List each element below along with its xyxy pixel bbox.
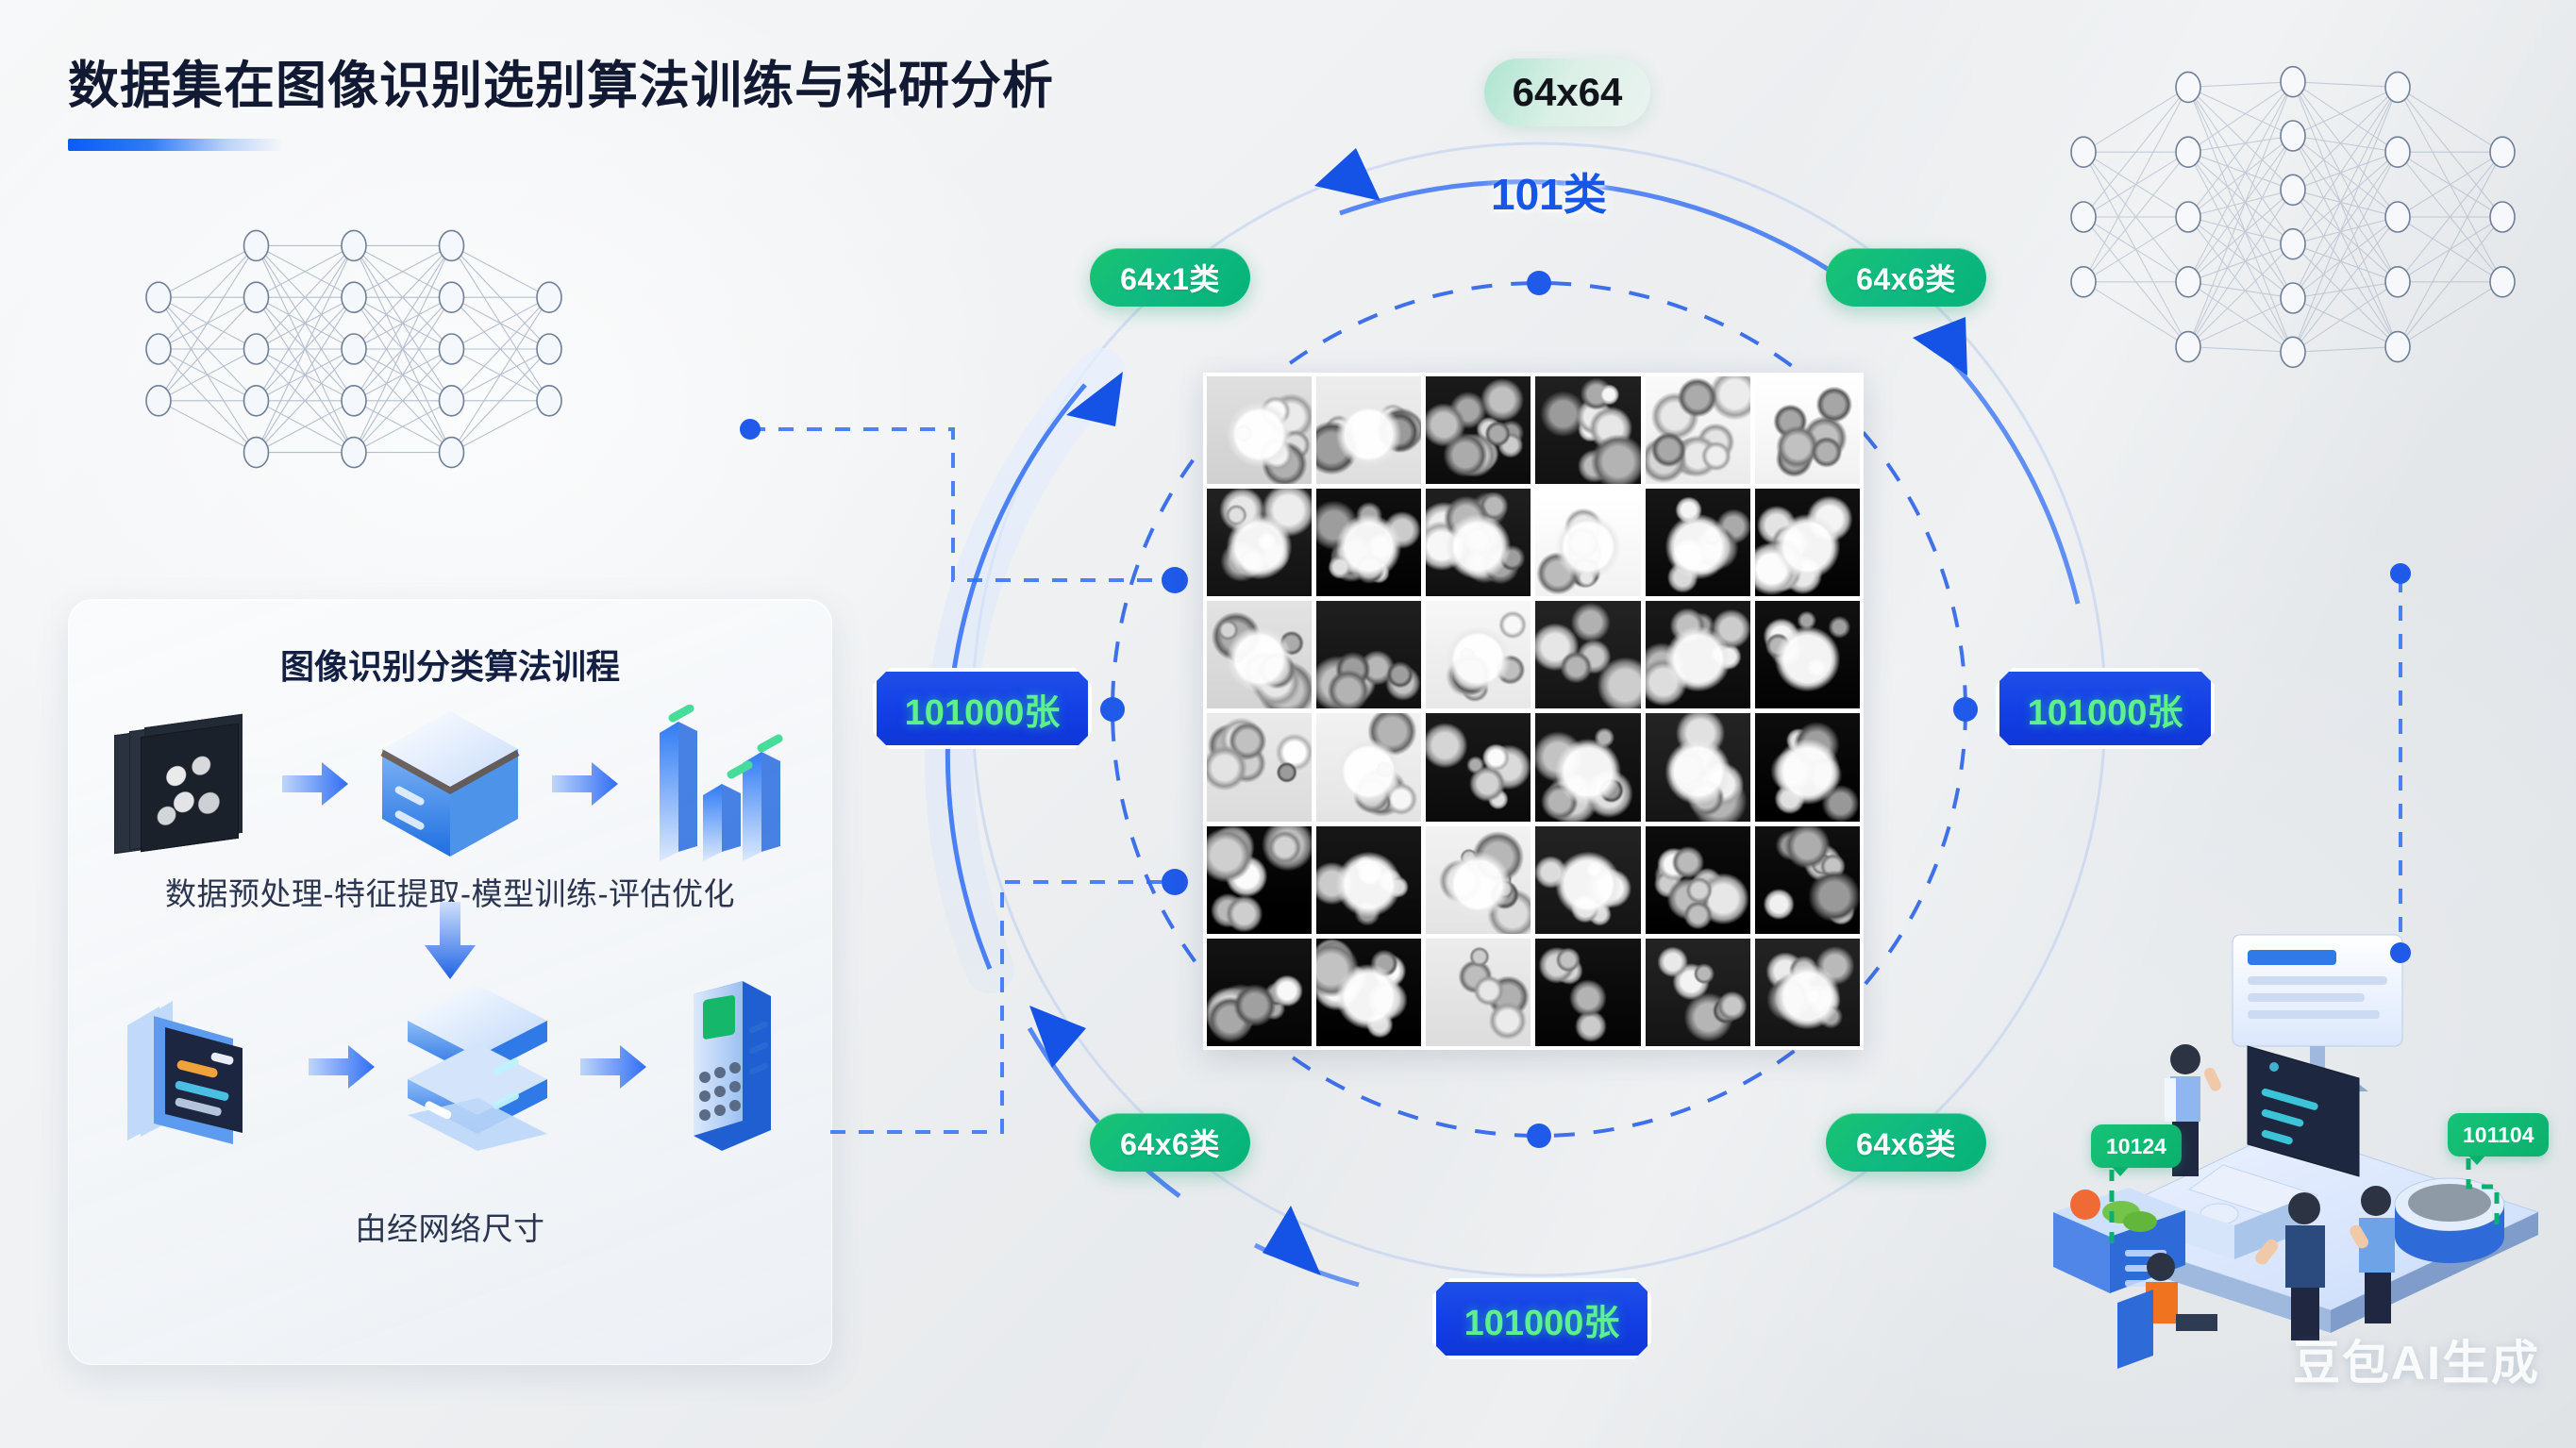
dataset-image-grid[interactable] xyxy=(1203,373,1864,1050)
arrow-down-icon xyxy=(421,900,479,981)
class-count-label: 101类 xyxy=(1491,160,1607,223)
card-caption-bottom: 甶经网络尺寸 xyxy=(69,1204,831,1249)
connector-dot-left-nn xyxy=(740,419,761,440)
bar-chart-icon xyxy=(644,705,786,863)
grid-cell[interactable] xyxy=(1426,489,1531,596)
grid-cell[interactable] xyxy=(1535,489,1640,596)
arrow-right-icon xyxy=(307,1041,376,1092)
circle-node-left xyxy=(1100,697,1125,722)
page-title: 数据集在图像识别选别算法训练与科研分析 xyxy=(68,43,1054,118)
grid-cell[interactable] xyxy=(1207,713,1312,821)
connector-dot-grid-upper xyxy=(1162,567,1188,593)
card-title: 图像识别分类算法训程 xyxy=(69,640,831,689)
badge-bottom-left: 64x6类 xyxy=(1090,1113,1250,1172)
grid-cell[interactable] xyxy=(1646,376,1750,484)
grid-cell[interactable] xyxy=(1646,939,1750,1046)
code-window-icon xyxy=(122,982,282,1152)
grid-cell[interactable] xyxy=(1755,826,1860,934)
image-size-badge: 64x64 xyxy=(1484,58,1650,126)
grid-cell[interactable] xyxy=(1426,713,1531,821)
grid-cell[interactable] xyxy=(1646,601,1750,708)
connector-dot-grid-lower xyxy=(1162,869,1188,895)
grid-cell[interactable] xyxy=(1646,713,1750,821)
grid-cell[interactable] xyxy=(1535,376,1640,484)
badge-bottom-right: 64x6类 xyxy=(1826,1113,1986,1172)
grid-cell[interactable] xyxy=(1426,939,1531,1046)
watermark: 豆包AI生成 xyxy=(2293,1325,2540,1393)
pipeline-row-bottom xyxy=(69,977,831,1157)
badge-top-right: 64x6类 xyxy=(1826,248,1986,307)
grid-cell[interactable] xyxy=(1535,939,1640,1046)
grid-cell[interactable] xyxy=(1207,939,1312,1046)
connector-dot-right-nn xyxy=(2390,563,2411,584)
neural-network-icon xyxy=(132,193,576,505)
grid-cell[interactable] xyxy=(1755,939,1860,1046)
grid-cell[interactable] xyxy=(1755,601,1860,708)
grain-bucket xyxy=(2395,1178,2504,1263)
grid-cell[interactable] xyxy=(1646,826,1750,934)
neural-network-diagram-left xyxy=(132,193,576,505)
connector-left-card-to-grid xyxy=(830,882,1170,1132)
grid-cell[interactable] xyxy=(1207,489,1312,596)
arrow-right-icon xyxy=(280,758,350,809)
count-badge-left: 101000张 xyxy=(873,668,1092,749)
grid-cell[interactable] xyxy=(1316,826,1421,934)
handheld-scanner-icon xyxy=(673,979,778,1155)
badge-top-left: 64x1类 xyxy=(1090,248,1250,307)
circle-node-right xyxy=(1953,697,1978,722)
grid-cell[interactable] xyxy=(1316,489,1421,596)
scene-tip-left: 10124 xyxy=(2091,1124,2182,1168)
neural-network-icon xyxy=(2057,28,2529,406)
circle-node-top xyxy=(1527,271,1551,295)
neural-network-diagram-right xyxy=(2057,28,2529,406)
grid-cell[interactable] xyxy=(1646,489,1750,596)
page-header: 数据集在图像识别选别算法训练与科研分析 xyxy=(68,43,1054,151)
arrow-right-icon xyxy=(550,758,620,809)
grid-cell[interactable] xyxy=(1316,713,1421,821)
grid-cell[interactable] xyxy=(1755,713,1860,821)
grid-cell[interactable] xyxy=(1426,601,1531,708)
grid-cell[interactable] xyxy=(1316,939,1421,1046)
database-icon xyxy=(375,704,526,864)
grid-cell[interactable] xyxy=(1535,713,1640,821)
arrow-right-icon xyxy=(578,1041,648,1092)
grid-cell[interactable] xyxy=(1535,601,1640,708)
grid-cell[interactable] xyxy=(1207,601,1312,708)
infographic-canvas: 数据集在图像识别选别算法训练与科研分析 xyxy=(0,0,2576,1448)
pipeline-row-top xyxy=(69,708,831,859)
photo-stack-icon xyxy=(114,713,256,855)
count-badge-right: 101000张 xyxy=(1996,668,2215,749)
grid-cell[interactable] xyxy=(1426,826,1531,934)
grid-cell[interactable] xyxy=(1426,376,1531,484)
connector-left-nn-to-grid xyxy=(750,429,1170,580)
title-underline xyxy=(68,139,283,151)
grid-cell[interactable] xyxy=(1755,489,1860,596)
algorithm-training-card: 图像识别分类算法训程 xyxy=(68,599,832,1365)
grid-cell[interactable] xyxy=(1755,376,1860,484)
grid-cell[interactable] xyxy=(1316,601,1421,708)
grid-cell[interactable] xyxy=(1535,826,1640,934)
scene-tip-right: 101104 xyxy=(2448,1113,2549,1157)
count-badge-bottom: 101000张 xyxy=(1432,1278,1651,1359)
grid-cell[interactable] xyxy=(1207,826,1312,934)
circle-node-bottom xyxy=(1527,1123,1551,1148)
grid-cell[interactable] xyxy=(1316,376,1421,484)
server-cube-icon xyxy=(401,979,554,1155)
grid-cell[interactable] xyxy=(1207,376,1312,484)
